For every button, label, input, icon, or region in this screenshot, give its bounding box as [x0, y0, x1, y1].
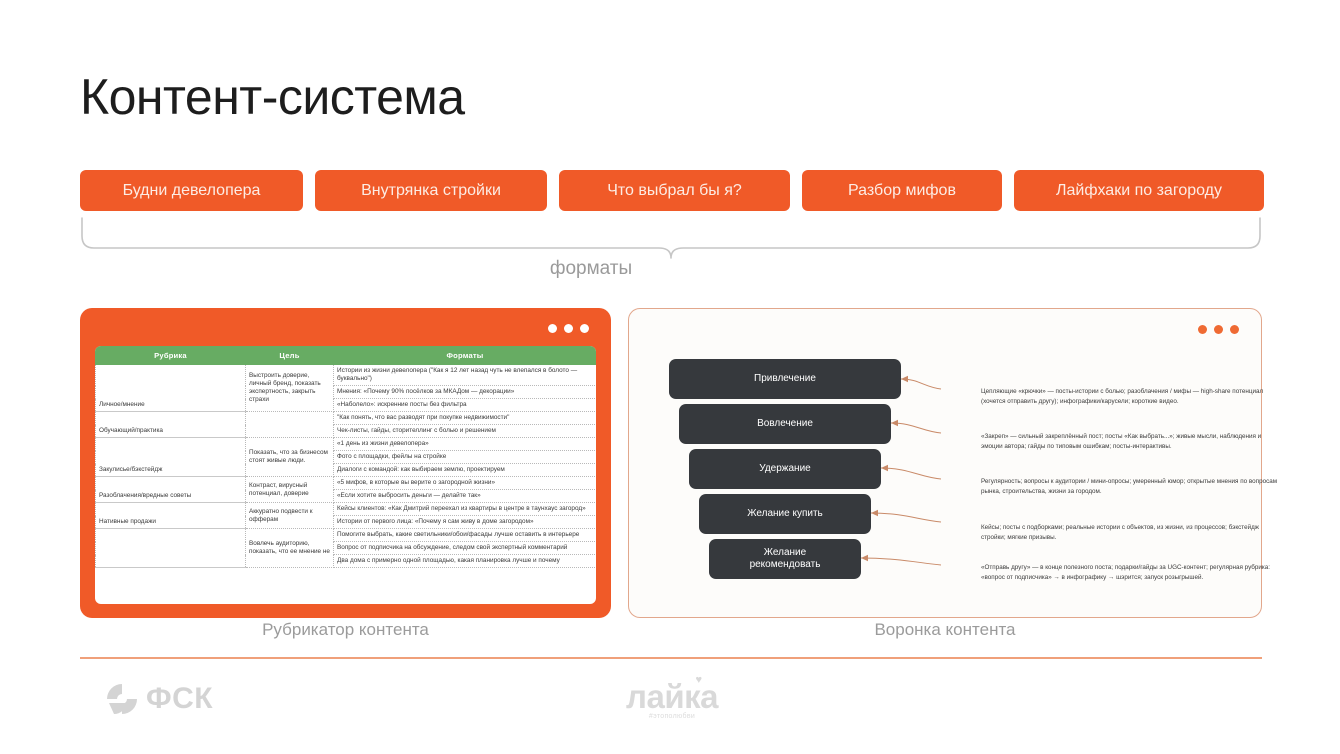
funnel-stage-zhelanie-kupit[interactable]: Желание купить: [699, 494, 871, 534]
funnel-stage-vovlechenie[interactable]: Вовлечение: [679, 404, 891, 444]
cell-category: [96, 529, 246, 568]
cell-category: Нативные продажи: [96, 503, 246, 529]
curly-brace-icon: [80, 216, 1262, 260]
cell-goal: [246, 412, 334, 438]
funnel-note-4: «Отправь другу» — в конце полезного пост…: [981, 563, 1281, 583]
cell-category: Разоблачения/вредные советы: [96, 477, 246, 503]
funnel-stage-privlechenie[interactable]: Привлечение: [669, 359, 901, 399]
slide-root: Контент-система Будни девелопера Внутрян…: [0, 0, 1340, 754]
cell-format: Помогите выбрать, какие светильники/обои…: [334, 529, 597, 542]
pill-chto-vybral-by-ya[interactable]: Что выбрал бы я?: [559, 170, 790, 211]
funnel-note-3: Кейсы; посты с подборками; реальные исто…: [981, 523, 1281, 543]
dot-icon: [548, 324, 557, 333]
rubricator-table-shell: Рубрика Цель Форматы Личное/мнение Выстр…: [95, 346, 596, 604]
table-row: Нативные продажи Аккуратно подвести к оф…: [96, 503, 597, 516]
rubricator-card: Рубрика Цель Форматы Личное/мнение Выстр…: [80, 308, 611, 618]
col-header-rubrika: Рубрика: [96, 347, 246, 365]
cell-format: «1 день из жизни девелопера»: [334, 438, 597, 451]
cell-category: Личное/мнение: [96, 365, 246, 412]
brace-graphic: [80, 216, 1262, 260]
fsk-wordmark: ФСК: [146, 682, 213, 716]
pill-budni-developera[interactable]: Будни девелопера: [80, 170, 303, 211]
brace-label: форматы: [0, 258, 1182, 280]
col-header-formaty: Форматы: [334, 347, 597, 365]
caption-rubricator: Рубрикатор контента: [80, 620, 611, 640]
table-header-row: Рубрика Цель Форматы: [96, 347, 597, 365]
fsk-mark-icon: [105, 682, 139, 716]
cell-format: Мнения: «Почему 90% посёлков за МКАДом —…: [334, 386, 597, 399]
cell-format: Вопрос от подписчика на обсуждение, след…: [334, 542, 597, 555]
cell-goal: Показать, что за бизнесом стоят живые лю…: [246, 438, 334, 477]
funnel-note-0: Цепляющие «крючки» — посты-истории с бол…: [981, 387, 1281, 407]
heart-icon: ♥: [695, 674, 702, 686]
cell-format: «Если хотите выбросить деньги — делайте …: [334, 490, 597, 503]
pill-layfhaki-po-zagorodu[interactable]: Лайфхаки по загороду: [1014, 170, 1264, 211]
funnel-note-2: Регулярность; вопросы к аудитории / мини…: [981, 477, 1281, 497]
dot-icon: [1198, 325, 1207, 334]
cell-format: Кейсы клиентов: «Как Дмитрий переехал из…: [334, 503, 597, 516]
rubricator-table: Рубрика Цель Форматы Личное/мнение Выстр…: [95, 346, 596, 568]
footer-divider: [80, 657, 1262, 659]
pill-razbor-mifov[interactable]: Разбор мифов: [802, 170, 1002, 211]
cell-format: Истории из жизни девелопера ("Как я 12 л…: [334, 365, 597, 386]
table-row: Закулисье/бэкстейдж Показать, что за биз…: [96, 438, 597, 451]
window-dots-left: [548, 324, 589, 333]
cell-format: Диалоги с командой: как выбираем землю, …: [334, 464, 597, 477]
cell-goal: Вовлечь аудиторию, показать, что ее мнен…: [246, 529, 334, 568]
table-row: Личное/мнение Выстроить доверие, личный …: [96, 365, 597, 386]
table-row: Обучающий/практика "Как понять, что вас …: [96, 412, 597, 425]
cell-format: Два дома с примерно одной площадью, кака…: [334, 555, 597, 568]
cell-category: Закулисье/бэкстейдж: [96, 438, 246, 477]
dot-icon: [580, 324, 589, 333]
funnel-note-1: «Закреп» — сильный закреплённый пост; по…: [981, 432, 1281, 452]
cell-goal: Аккуратно подвести к офферам: [246, 503, 334, 529]
pill-vnutryanka-stroyki[interactable]: Внутрянка стройки: [315, 170, 547, 211]
funnel-stage-uderzhanie[interactable]: Удержание: [689, 449, 881, 489]
col-header-tsel: Цель: [246, 347, 334, 365]
cell-format: Чек-листы, гайды, сторителлинг с болью и…: [334, 425, 597, 438]
funnel-stage-zhelanie-rekomendovat[interactable]: Желание рекомендовать: [709, 539, 861, 579]
page-title: Контент-система: [80, 72, 465, 122]
cell-goal: Выстроить доверие, личный бренд, показат…: [246, 365, 334, 412]
cell-category: Обучающий/практика: [96, 412, 246, 438]
rubricator-table-body: Личное/мнение Выстроить доверие, личный …: [96, 365, 597, 568]
window-dots-right: [1198, 325, 1239, 334]
dot-icon: [564, 324, 573, 333]
table-row: Вовлечь аудиторию, показать, что ее мнен…: [96, 529, 597, 542]
caption-funnel: Воронка контента: [628, 620, 1262, 640]
cell-format: «Наболело»: искренние посты без фильтра: [334, 399, 597, 412]
table-row: Разоблачения/вредные советы Контраст, ви…: [96, 477, 597, 490]
dot-icon: [1214, 325, 1223, 334]
cell-goal: Контраст, вирусный потенциал, доверие: [246, 477, 334, 503]
cell-format: Фото с площадки, фейлы на стройке: [334, 451, 597, 464]
funnel-card: Привлечение Вовлечение Удержание Желание…: [628, 308, 1262, 618]
cell-format: Истории от первого лица: «Почему я сам ж…: [334, 516, 597, 529]
laika-wordmark: лайка: [626, 678, 718, 715]
formats-pill-row: Будни девелопера Внутрянка стройки Что в…: [80, 170, 1262, 211]
dot-icon: [1230, 325, 1239, 334]
logo-fsk: ФСК: [105, 682, 213, 716]
logo-laika: лайка ♥ #этополюбви: [612, 678, 732, 720]
cell-format: «5 мифов, в которые вы верите о загородн…: [334, 477, 597, 490]
cell-format: "Как понять, что вас разводят при покупк…: [334, 412, 597, 425]
